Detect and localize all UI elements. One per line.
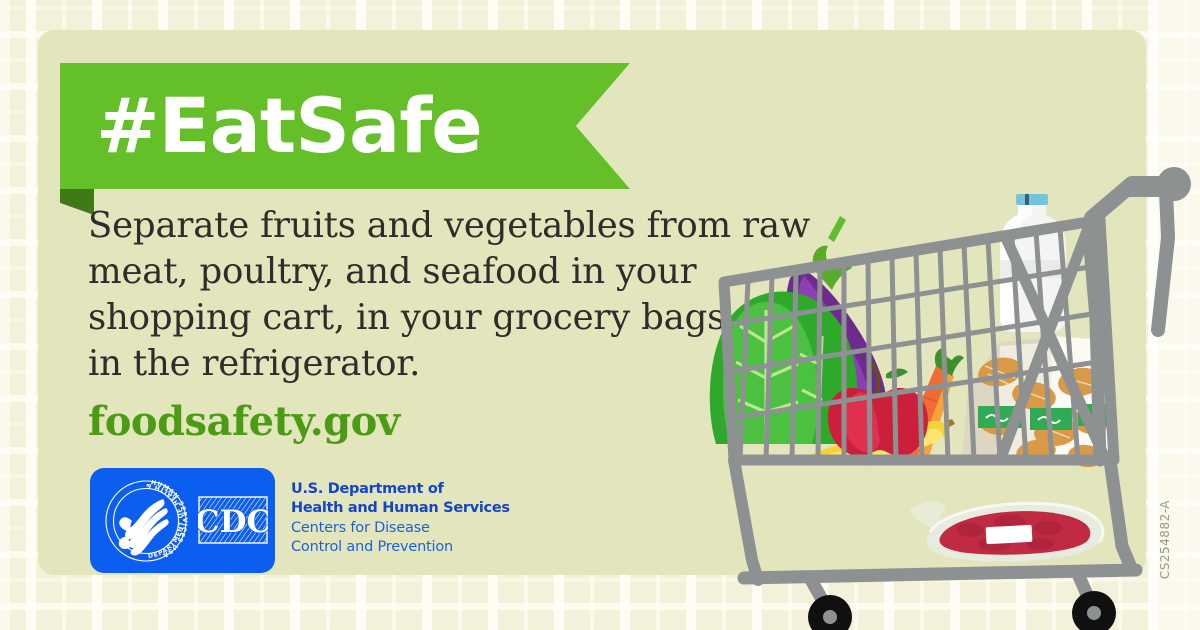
cdc-mark-text: CDC [198,504,268,540]
cdc-hhs-logo-block: HUMAN SERVICES USA DEPARTMENT OF HEALTH … [90,468,510,573]
agency-line-1: U.S. Department of [291,480,510,499]
cart-wheel-front [808,595,852,630]
agency-line-4: Control and Prevention [291,538,510,557]
poster-canvas: #EatSafe Separate fruits and vegetables … [0,0,1200,630]
agency-line-3: Centers for Disease [291,519,510,538]
hhs-seal-icon: HUMAN SERVICES USA DEPARTMENT OF HEALTH … [100,475,192,567]
shopping-cart-illustration [700,160,1200,630]
hashtag-title: #EatSafe [60,88,482,164]
agency-name-text: U.S. Department of Health and Human Serv… [291,468,510,557]
foodsafety-url[interactable]: foodsafety.gov [88,398,400,445]
cdc-wordmark-icon: CDC [198,496,268,544]
agency-line-2: Health and Human Services [291,499,510,518]
ribbon-banner: #EatSafe [30,63,610,196]
plaid-band-left [0,0,10,630]
catalog-code: CS254882-A [1158,500,1172,579]
raw-meat-package-icon [910,501,1103,561]
cart-wheel-rear [1072,591,1116,630]
ribbon-body: #EatSafe [60,63,630,189]
cdc-badge: HUMAN SERVICES USA DEPARTMENT OF HEALTH … [90,468,275,573]
